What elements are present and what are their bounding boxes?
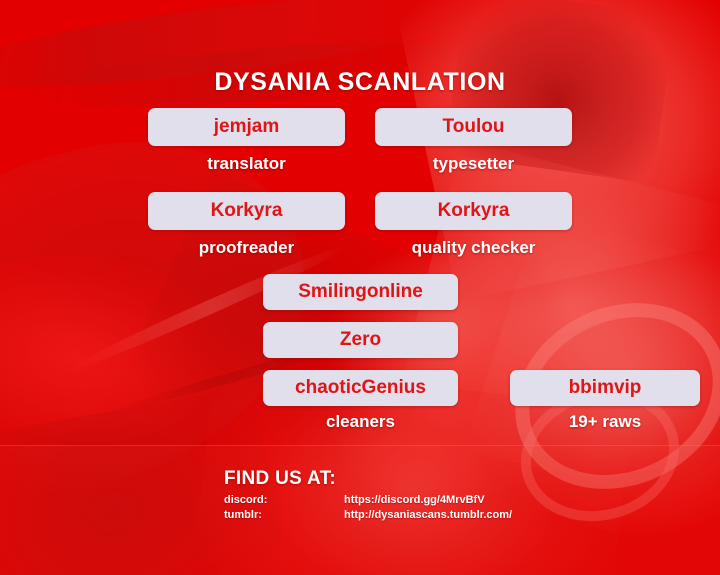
credit-name-cleaner-3: chaoticGenius [263, 370, 458, 406]
credit-name-proofreader: Korkyra [148, 192, 345, 230]
credit-name-translator: jemjam [148, 108, 345, 146]
credit-role-proofreader: proofreader [148, 238, 345, 258]
credit-name-cleaner-2: Zero [263, 322, 458, 358]
footer-link-url-discord[interactable]: https://discord.gg/4MrvBfV [344, 493, 485, 508]
credit-role-quality-checker: quality checker [375, 238, 572, 258]
credit-name-quality-checker: Korkyra [375, 192, 572, 230]
credit-name-raws: bbimvip [510, 370, 700, 406]
credit-role-translator: translator [148, 154, 345, 174]
credit-role-raws: 19+ raws [510, 412, 700, 432]
footer-link-url-tumblr[interactable]: http://dysaniascans.tumblr.com/ [344, 508, 512, 523]
credits-content: DYSANIA SCANLATION jemjam translator Tou… [0, 0, 720, 575]
footer-link-discord[interactable]: discord: https://discord.gg/4MrvBfV [224, 493, 512, 508]
page-title: DYSANIA SCANLATION [0, 68, 720, 97]
footer: FIND US AT: discord: https://discord.gg/… [224, 468, 512, 523]
scanlation-credits-page: DYSANIA SCANLATION jemjam translator Tou… [0, 0, 720, 575]
footer-link-label-discord: discord: [224, 493, 344, 508]
credit-role-typesetter: typesetter [375, 154, 572, 174]
credit-name-typesetter: Toulou [375, 108, 572, 146]
footer-heading: FIND US AT: [224, 468, 512, 490]
footer-link-label-tumblr: tumblr: [224, 508, 344, 523]
footer-link-tumblr[interactable]: tumblr: http://dysaniascans.tumblr.com/ [224, 508, 512, 523]
credit-role-cleaners: cleaners [263, 412, 458, 432]
credit-name-cleaner-1: Smilingonline [263, 274, 458, 310]
